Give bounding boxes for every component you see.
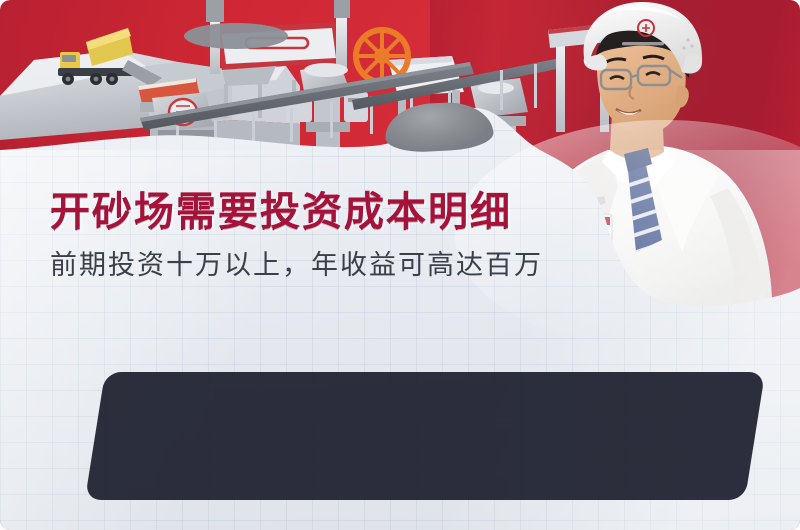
page-title: 开砂场需要投资成本明细 [50, 190, 570, 234]
headline-block: 开砂场需要投资成本明细 前期投资十万以上，年收益可高达百万 [50, 190, 570, 281]
page-subtitle: 前期投资十万以上，年收益可高达百万 [50, 250, 570, 281]
promo-banner: 开砂场需要投资成本明细 前期投资十万以上，年收益可高达百万 手续办理 › 投资设… [0, 0, 800, 530]
cost-bar-clip: 手续办理 › 投资设备 › 人工费用 › 维修成本 › 其他 2万起 2-4万每… [44, 360, 690, 500]
